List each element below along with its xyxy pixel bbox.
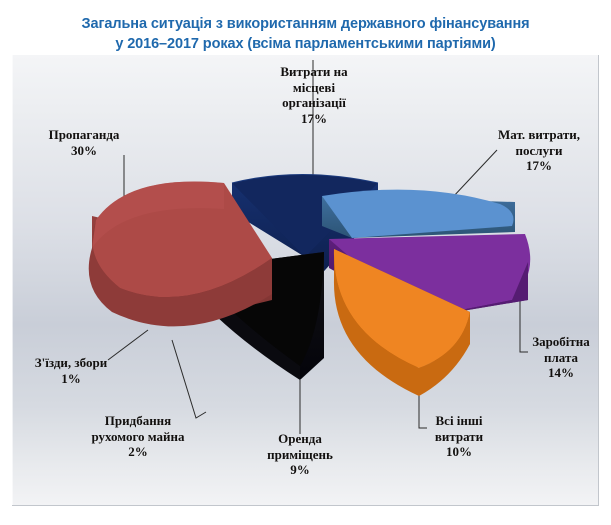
label-value: 14% xyxy=(513,365,609,381)
slice-label-salary: Заробітна плата 14% xyxy=(513,334,609,381)
label-value: 9% xyxy=(245,462,355,478)
label-line: витрати xyxy=(411,429,507,445)
label-line: Заробітна xyxy=(513,334,609,350)
label-line: приміщень xyxy=(245,447,355,463)
label-line: Всі інші xyxy=(411,413,507,429)
slice-label-propaganda: Пропаганда 30% xyxy=(22,127,146,158)
label-line: організації xyxy=(249,95,379,111)
label-value: 10% xyxy=(411,444,507,460)
label-value: 17% xyxy=(249,111,379,127)
leader-line-movable xyxy=(172,340,206,418)
label-line: З'їзди, збори xyxy=(8,355,134,371)
label-value: 2% xyxy=(62,444,214,460)
slice-label-material-expenses: Мат. витрати, послуги 17% xyxy=(473,127,605,174)
slice-label-local-organizations: Витрати на місцеві організації 17% xyxy=(249,64,379,126)
label-value: 30% xyxy=(22,143,146,159)
label-line: Пропаганда xyxy=(22,127,146,143)
label-line: плата xyxy=(513,350,609,366)
label-line: Оренда xyxy=(245,431,355,447)
pie-slice-material-expenses[interactable] xyxy=(322,190,515,238)
label-line: місцеві xyxy=(249,80,379,96)
label-value: 17% xyxy=(473,158,605,174)
slice-label-movable-property: Придбання рухомого майна 2% xyxy=(62,413,214,460)
chart-screenshot: Загальна ситуація з використанням держав… xyxy=(0,0,611,525)
label-line: Витрати на xyxy=(249,64,379,80)
slice-label-other-expenses: Всі інші витрати 10% xyxy=(411,413,507,460)
label-line: послуги xyxy=(473,143,605,159)
label-line: Придбання xyxy=(62,413,214,429)
slice-label-rent: Оренда приміщень 9% xyxy=(245,431,355,478)
label-value: 1% xyxy=(8,371,134,387)
slice-label-congresses: З'їзди, збори 1% xyxy=(8,355,134,386)
label-line: Мат. витрати, xyxy=(473,127,605,143)
label-line: рухомого майна xyxy=(62,429,214,445)
